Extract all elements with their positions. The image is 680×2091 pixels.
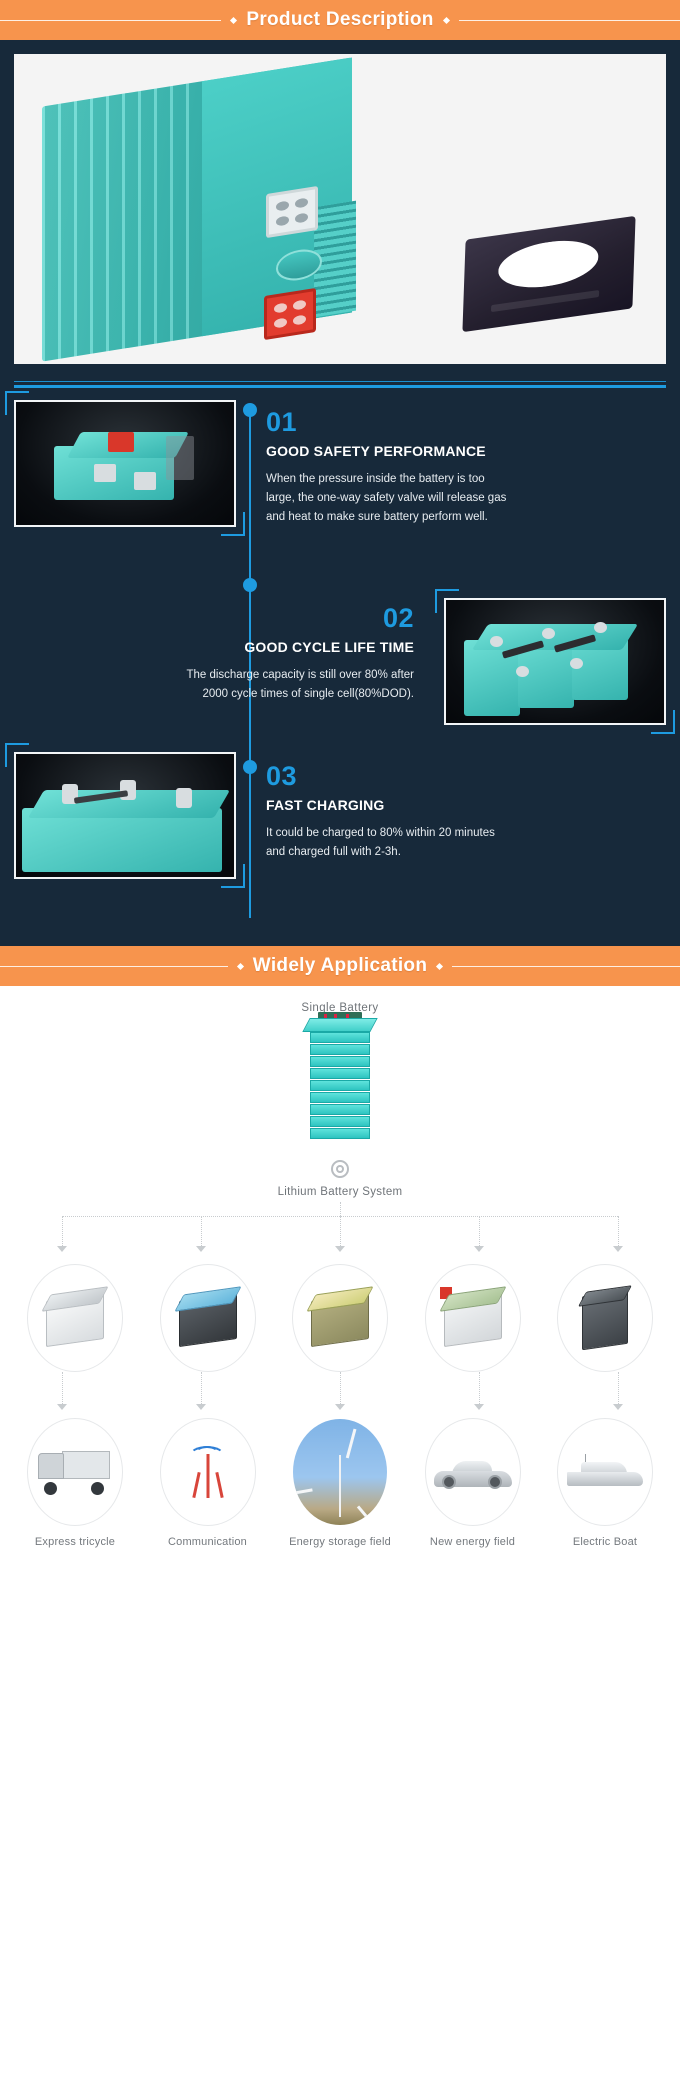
application-diagram: Single Battery Lithium Battery System: [0, 986, 680, 1570]
use-case-label-express-tricycle: Express tricycle: [14, 1536, 136, 1548]
use-case-thumb-communication[interactable]: [160, 1418, 256, 1526]
use-case-photos-row: [0, 1418, 680, 1526]
use-case-label-new-energy-field: New energy field: [412, 1536, 534, 1548]
blue-divider: [14, 380, 666, 390]
feature-number-01: 01: [266, 408, 666, 436]
corner-bracket-bottom-right: [651, 710, 675, 734]
electric-car-icon: [434, 1455, 512, 1489]
feature-title-02: GOOD CYCLE LIFE TIME: [14, 639, 414, 655]
feature-body-03: It could be charged to 80% within 20 min…: [266, 824, 511, 861]
use-case-label-electric-boat: Electric Boat: [544, 1536, 666, 1548]
product-cell: [279, 1264, 401, 1372]
use-case-cell: [147, 1418, 269, 1526]
product-thumbnails-row: [0, 1264, 680, 1372]
banner-diamond-right-icon: [436, 962, 443, 969]
feature-body-01: When the pressure inside the battery is …: [266, 470, 511, 526]
connector-row: [0, 1372, 680, 1418]
feature-photo-03: [14, 752, 236, 879]
use-case-cell: [279, 1418, 401, 1526]
lithium-battery-system-label: Lithium Battery System: [0, 1186, 680, 1198]
distribution-tree: [0, 1202, 680, 1264]
feature-item-01: 01 GOOD SAFETY PERFORMANCE When the pres…: [0, 400, 680, 570]
section-title-widely-application: Widely Application: [253, 955, 427, 977]
use-case-thumb-new-energy-field[interactable]: [425, 1418, 521, 1526]
feature-photo-01: [14, 400, 236, 527]
banner-line-right: [459, 20, 680, 21]
product-thumb-flat-battery-module[interactable]: [425, 1264, 521, 1372]
feature-item-03: 03 FAST CHARGING It could be charged to …: [0, 740, 680, 910]
product-thumb-rack-battery-cabinet[interactable]: [27, 1264, 123, 1372]
use-case-thumb-express-tricycle[interactable]: [27, 1418, 123, 1526]
timeline-node-2: [243, 578, 257, 592]
use-case-cell: [544, 1418, 666, 1526]
battery-terminal-negative: [264, 288, 316, 340]
banner-line-left: [0, 966, 228, 967]
banner-diamond-left-icon: [237, 962, 244, 969]
section-banner-widely-application: Widely Application: [0, 946, 680, 986]
banner-line-right: [452, 966, 680, 967]
product-description-page: Product Description: [0, 0, 680, 1570]
timeline-node-1: [243, 403, 257, 417]
features-timeline: 01 GOOD SAFETY PERFORMANCE When the pres…: [0, 390, 680, 932]
single-battery-stack-icon: [304, 1026, 376, 1146]
use-case-cell: [412, 1418, 534, 1526]
boat-icon: [565, 1454, 645, 1490]
product-cell: [544, 1264, 666, 1372]
feature-number-03: 03: [266, 762, 666, 790]
single-battery-graphic-wrap: [0, 1026, 680, 1146]
telecom-tower-icon: [181, 1442, 235, 1502]
section-banner-product-description: Product Description: [0, 0, 680, 40]
feature-text-03: 03 FAST CHARGING It could be charged to …: [236, 740, 666, 862]
feature-photo-02: [444, 598, 666, 725]
corner-bracket-bottom-right: [221, 512, 245, 536]
use-case-thumb-energy-storage-field[interactable]: [292, 1418, 388, 1526]
tricycle-icon: [38, 1449, 112, 1495]
banner-diamond-left-icon: [230, 16, 237, 23]
feature-body-02: The discharge capacity is still over 80%…: [169, 666, 414, 703]
corner-bracket-bottom-right: [221, 864, 245, 888]
feature-text-01: 01 GOOD SAFETY PERFORMANCE When the pres…: [236, 400, 666, 526]
banner-diamond-right-icon: [443, 16, 450, 23]
system-hub-wrap: [0, 1160, 680, 1178]
timeline-node-3: [243, 760, 257, 774]
product-cell: [14, 1264, 136, 1372]
use-case-cell: [14, 1418, 136, 1526]
hero-image-wrap: [0, 40, 680, 364]
product-cell: [412, 1264, 534, 1372]
use-case-labels-row: Express tricycle Communication Energy st…: [0, 1526, 680, 1548]
black-end-cap-image: [462, 216, 635, 332]
product-thumb-tall-battery-cabinet[interactable]: [557, 1264, 653, 1372]
use-case-thumb-electric-boat[interactable]: [557, 1418, 653, 1526]
section-title-product-description: Product Description: [246, 9, 433, 31]
feature-text-02: 02 GOOD CYCLE LIFE TIME The discharge ca…: [14, 570, 444, 704]
product-cell: [147, 1264, 269, 1372]
feature-title-03: FAST CHARGING: [266, 797, 666, 813]
banner-line-left: [0, 20, 221, 21]
product-thumb-telecom-battery-module[interactable]: [160, 1264, 256, 1372]
battery-terminal-positive: [266, 186, 318, 238]
feature-title-01: GOOD SAFETY PERFORMANCE: [266, 443, 666, 459]
dark-product-section: 01 GOOD SAFETY PERFORMANCE When the pres…: [0, 40, 680, 946]
product-thumb-open-battery-pack[interactable]: [292, 1264, 388, 1372]
feature-item-02: 02 GOOD CYCLE LIFE TIME The discharge ca…: [0, 570, 680, 740]
hero-product-photo: [14, 54, 666, 364]
use-case-label-communication: Communication: [147, 1536, 269, 1548]
feature-number-02: 02: [14, 604, 414, 632]
use-case-label-energy-storage-field: Energy storage field: [279, 1536, 401, 1548]
target-ring-icon: [331, 1160, 349, 1178]
